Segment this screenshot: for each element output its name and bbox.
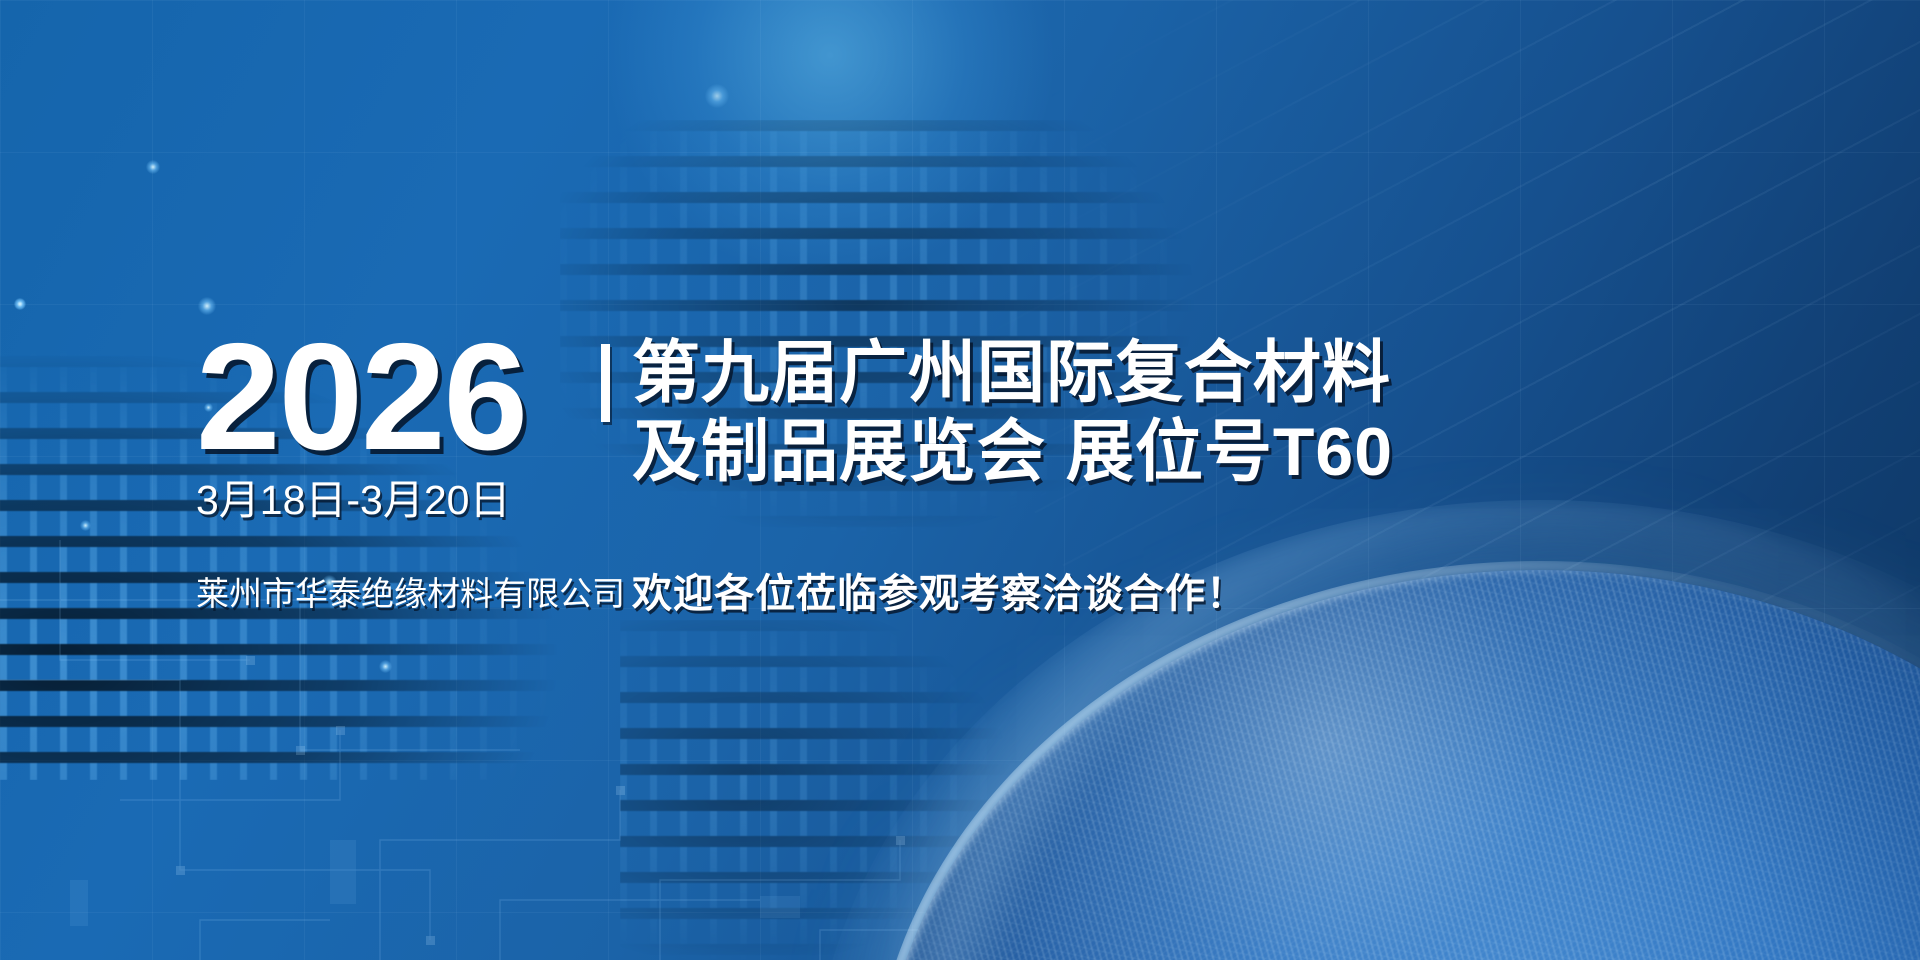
event-dates: 3月18日-3月20日 — [196, 478, 606, 523]
event-title-line-2: 及制品展览会 展位号T60 — [632, 413, 1832, 492]
event-title-block: 第九届广州国际复合材料 及制品展览会 展位号T60 — [632, 334, 1832, 492]
welcome-message: 欢迎各位莅临参观考察洽谈合作！ — [632, 570, 1247, 618]
event-title-line-1: 第九届广州国际复合材料 — [632, 334, 1832, 413]
event-date-block: 2026 3月18日-3月20日 — [196, 328, 606, 523]
vertical-divider — [601, 344, 610, 422]
company-name: 莱州市华泰绝缘材料有限公司 — [196, 574, 625, 614]
exhibition-banner: 2026 3月18日-3月20日 莱州市华泰绝缘材料有限公司 第九届广州国际复合… — [0, 0, 1920, 960]
banner-content: 2026 3月18日-3月20日 莱州市华泰绝缘材料有限公司 第九届广州国际复合… — [0, 0, 1920, 960]
event-year: 2026 — [196, 328, 606, 468]
